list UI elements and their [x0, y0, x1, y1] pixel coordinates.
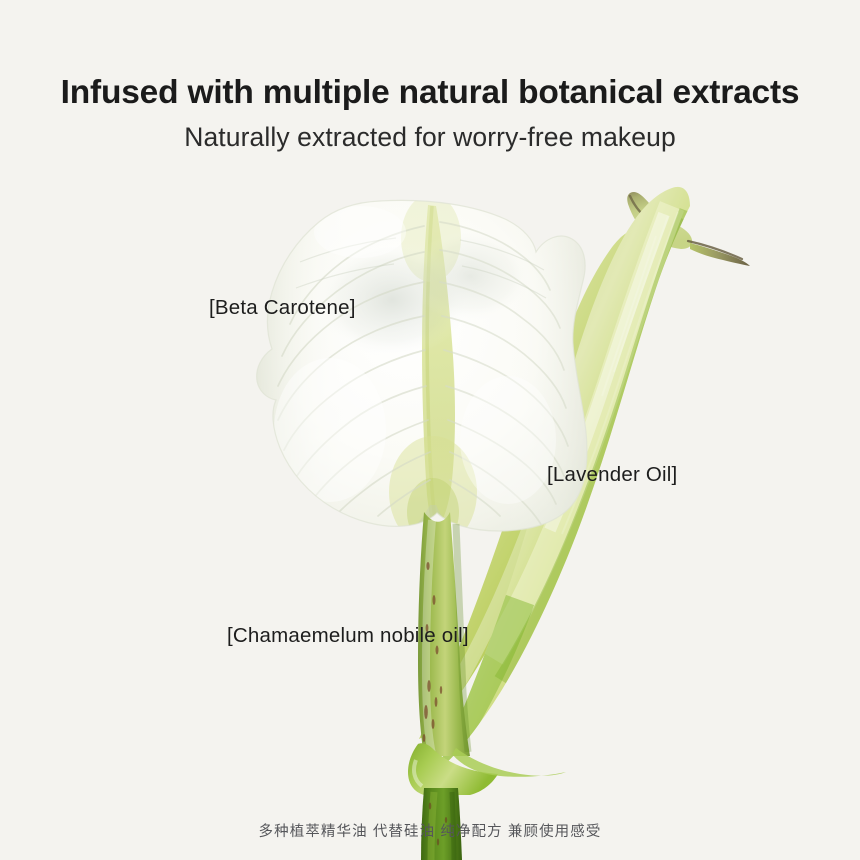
stem-junction — [408, 743, 566, 795]
callout-beta-carotene: [Beta Carotene] — [209, 296, 356, 320]
callout-chamaemelum-nobile-oil: [Chamaemelum nobile oil] — [227, 624, 469, 648]
spathe-petal — [256, 194, 592, 548]
flower-illustration — [0, 0, 860, 860]
product-infographic: Infused with multiple natural botanical … — [0, 0, 860, 860]
callout-lavender-oil: [Lavender Oil] — [547, 463, 677, 487]
footnote-text: 多种植萃精华油 代替硅油 纯净配方 兼顾使用感受 — [0, 820, 860, 841]
